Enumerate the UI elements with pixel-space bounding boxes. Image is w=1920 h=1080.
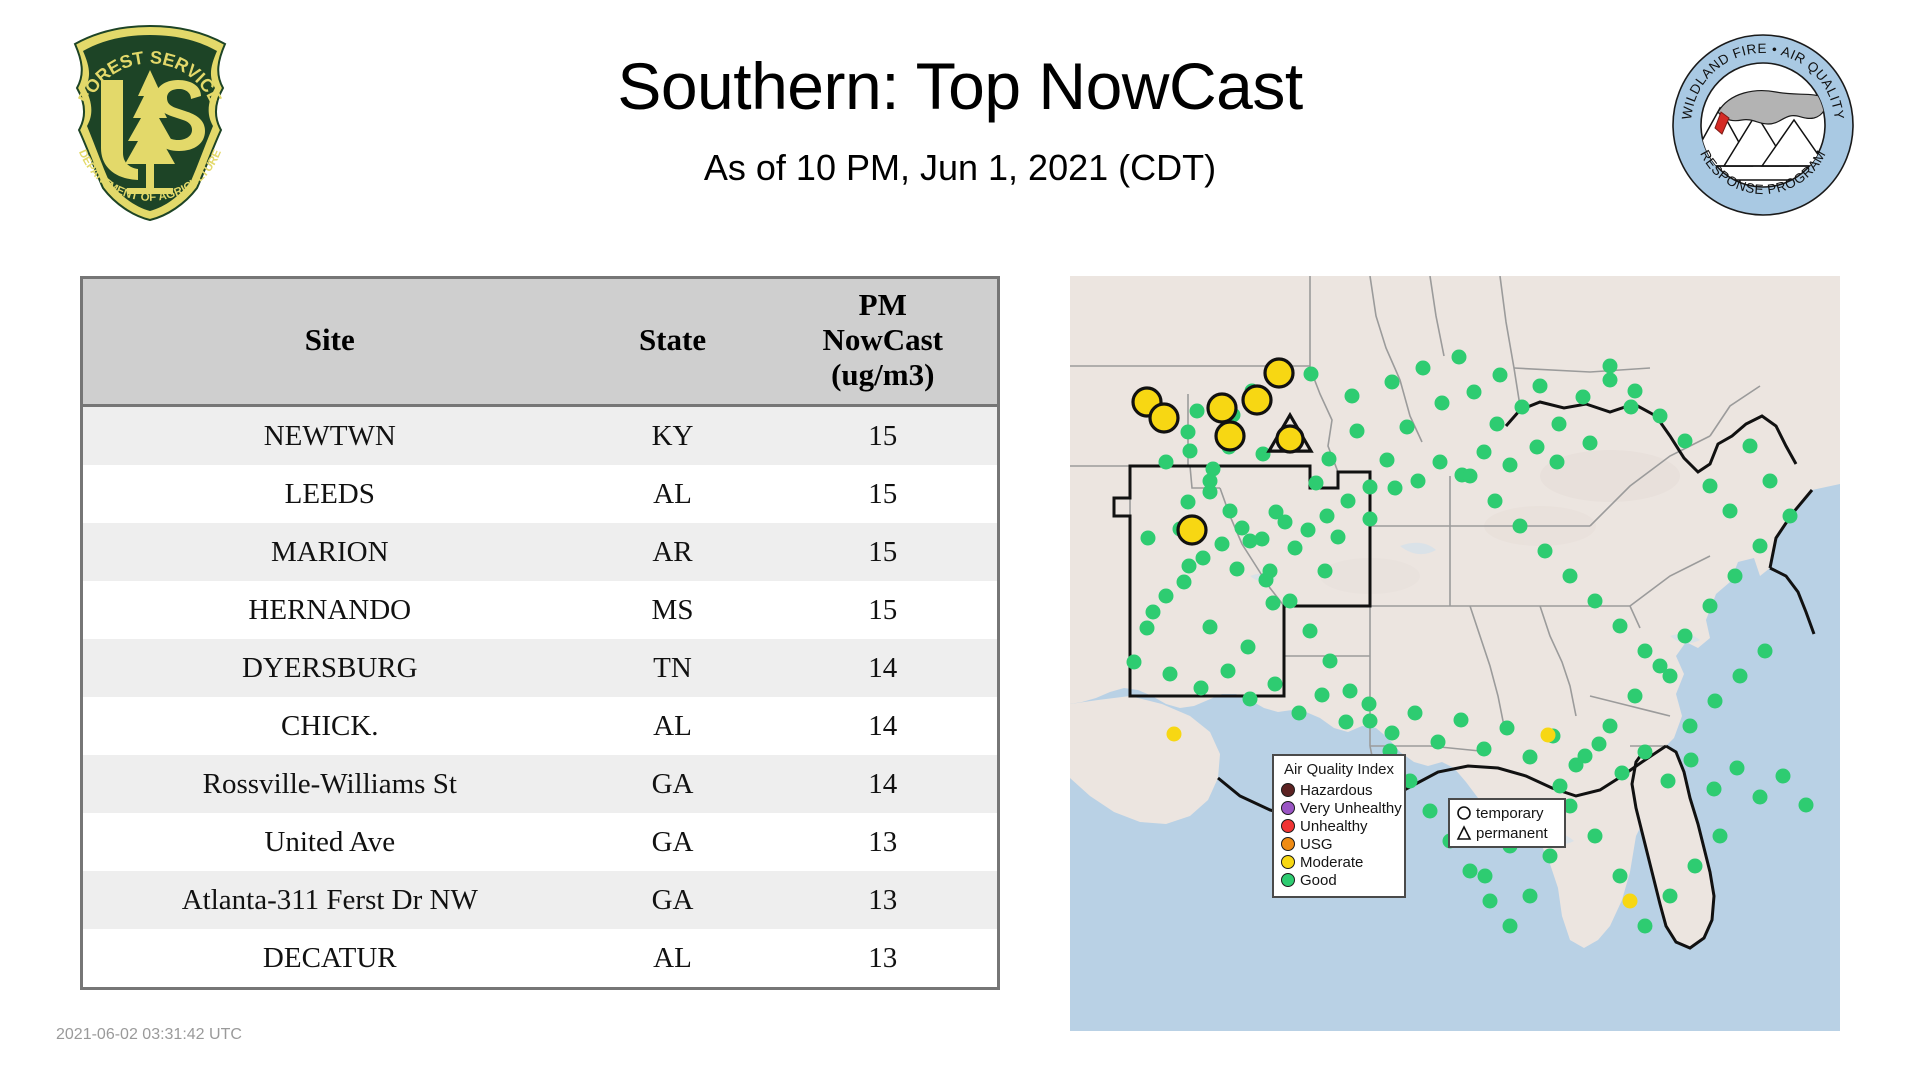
monitor-marker-good[interactable] <box>1553 779 1568 794</box>
monitor-marker-good[interactable] <box>1588 594 1603 609</box>
monitor-marker-good[interactable] <box>1552 417 1567 432</box>
monitor-marker-good[interactable] <box>1215 537 1230 552</box>
aqi-legend-label: Good <box>1300 873 1337 888</box>
cell-value: 15 <box>768 465 997 523</box>
cell-value: 14 <box>768 755 997 813</box>
cell-value: 15 <box>768 581 997 639</box>
monitor-marker-good[interactable] <box>1223 504 1238 519</box>
monitor-marker-good[interactable] <box>1743 439 1758 454</box>
table-row: NEWTWNKY15 <box>83 406 997 466</box>
wfaqrp-logo: WILDLAND FIRE • AIR QUALITY RESPONSE PRO… <box>1672 34 1854 216</box>
monitor-marker-good[interactable] <box>1663 889 1678 904</box>
monitor-marker-good[interactable] <box>1315 688 1330 703</box>
table-row: Atlanta-311 Ferst Dr NWGA13 <box>83 871 997 929</box>
cell-site: NEWTWN <box>83 406 577 466</box>
monitor-marker-good[interactable] <box>1385 726 1400 741</box>
monitor-marker-good[interactable] <box>1230 562 1245 577</box>
monitor-marker-good[interactable] <box>1707 782 1722 797</box>
monitor-marker-good[interactable] <box>1483 894 1498 909</box>
legend-label-temporary: temporary <box>1476 806 1544 821</box>
monitor-marker-good[interactable] <box>1661 774 1676 789</box>
cell-site: CHICK. <box>83 697 577 755</box>
cell-value: 14 <box>768 697 997 755</box>
monitor-marker-good[interactable] <box>1488 494 1503 509</box>
page-title: Southern: Top NowCast <box>260 52 1660 121</box>
monitor-marker-good[interactable] <box>1203 474 1218 489</box>
cell-state: AL <box>577 697 769 755</box>
cell-value: 15 <box>768 406 997 466</box>
column-header-state: State <box>577 279 769 406</box>
monitor-marker-good[interactable] <box>1628 689 1643 704</box>
cell-site: DYERSBURG <box>83 639 577 697</box>
aqi-legend: Air Quality Index HazardousVery Unhealth… <box>1272 754 1406 898</box>
aqi-swatch-icon <box>1281 873 1295 887</box>
cell-state: GA <box>577 755 769 813</box>
monitor-marker-good[interactable] <box>1341 494 1356 509</box>
cell-site: United Ave <box>83 813 577 871</box>
monitor-marker-good[interactable] <box>1653 409 1668 424</box>
cell-value: 13 <box>768 813 997 871</box>
monitor-marker-good[interactable] <box>1708 694 1723 709</box>
monitor-marker-good[interactable] <box>1513 519 1528 534</box>
monitor-marker-good[interactable] <box>1533 379 1548 394</box>
monitor-marker-good[interactable] <box>1411 474 1426 489</box>
monitor-marker-good[interactable] <box>1763 474 1778 489</box>
monitor-marker-good[interactable] <box>1304 367 1319 382</box>
monitor-marker-good[interactable] <box>1345 389 1360 404</box>
monitor-marker-good[interactable] <box>1678 629 1693 644</box>
monitor-marker-good[interactable] <box>1388 481 1403 496</box>
cell-site: Atlanta-311 Ferst Dr NW <box>83 871 577 929</box>
cell-state: KY <box>577 406 769 466</box>
aqi-legend-row: Good <box>1281 871 1397 889</box>
monitor-marker-good[interactable] <box>1624 400 1639 415</box>
aqi-legend-label: Very Unhealthy <box>1300 801 1402 816</box>
monitor-marker-good[interactable] <box>1452 350 1467 365</box>
aqi-legend-label: Moderate <box>1300 855 1363 870</box>
column-header-state-label: State <box>639 322 706 357</box>
monitor-marker-good[interactable] <box>1339 715 1354 730</box>
monitor-marker-highlight-permanent-dot[interactable] <box>1277 426 1303 452</box>
monitor-marker-good[interactable] <box>1477 445 1492 460</box>
column-header-site: Site <box>83 279 577 406</box>
monitor-marker-good[interactable] <box>1380 453 1395 468</box>
column-header-pm-line2: NowCast <box>822 322 943 357</box>
monitor-marker-good[interactable] <box>1463 469 1478 484</box>
cell-state: GA <box>577 813 769 871</box>
monitor-marker-good[interactable] <box>1713 829 1728 844</box>
monitor-marker-good[interactable] <box>1477 742 1492 757</box>
aqi-legend-label: Hazardous <box>1300 783 1373 798</box>
monitor-marker-highlight-temporary[interactable] <box>1178 516 1206 544</box>
monitor-marker-good[interactable] <box>1576 390 1591 405</box>
monitor-marker-good[interactable] <box>1181 495 1196 510</box>
monitor-marker-good[interactable] <box>1196 551 1211 566</box>
monitor-marker-good[interactable] <box>1653 659 1668 674</box>
monitor-marker-highlight-temporary[interactable] <box>1208 394 1236 422</box>
table-row: United AveGA13 <box>83 813 997 871</box>
table-row: DYERSBURGTN14 <box>83 639 997 697</box>
aqi-legend-row: Hazardous <box>1281 781 1397 799</box>
monitor-marker-good[interactable] <box>1538 544 1553 559</box>
monitor-marker-good[interactable] <box>1433 455 1448 470</box>
monitor-marker-good[interactable] <box>1515 400 1530 415</box>
monitor-marker-good[interactable] <box>1753 790 1768 805</box>
monitor-marker-good[interactable] <box>1182 559 1197 574</box>
cell-state: AL <box>577 929 769 987</box>
aqi-legend-title: Air Quality Index <box>1281 761 1397 778</box>
aqi-swatch-icon <box>1281 819 1295 833</box>
cell-state: AR <box>577 523 769 581</box>
legend-row-permanent: permanent <box>1456 823 1548 843</box>
monitor-marker-good[interactable] <box>1203 620 1218 635</box>
cell-value: 13 <box>768 871 997 929</box>
aqi-swatch-icon <box>1281 855 1295 869</box>
monitor-marker-highlight-temporary[interactable] <box>1216 422 1244 450</box>
monitor-marker-good[interactable] <box>1467 385 1482 400</box>
monitor-marker-good[interactable] <box>1181 425 1196 440</box>
aqi-legend-row: Unhealthy <box>1281 817 1397 835</box>
legend-label-permanent: permanent <box>1476 826 1548 841</box>
monitor-marker-good[interactable] <box>1500 721 1515 736</box>
title-block: Southern: Top NowCast As of 10 PM, Jun 1… <box>260 52 1660 189</box>
monitor-marker-good[interactable] <box>1638 745 1653 760</box>
monitor-marker-good[interactable] <box>1490 417 1505 432</box>
monitor-marker-good[interactable] <box>1416 361 1431 376</box>
monitor-marker-good[interactable] <box>1400 420 1415 435</box>
monitor-marker-good[interactable] <box>1350 424 1365 439</box>
monitor-marker-good[interactable] <box>1603 719 1618 734</box>
column-header-pm-line1: PM <box>859 287 907 322</box>
monitor-marker-good[interactable] <box>1454 713 1469 728</box>
monitor-marker-good[interactable] <box>1320 509 1335 524</box>
column-header-pm-line3: (ug/m3) <box>831 357 934 392</box>
monitor-marker-good[interactable] <box>1503 458 1518 473</box>
site-type-legend: temporary permanent <box>1448 798 1566 848</box>
aqi-legend-row: Very Unhealthy <box>1281 799 1397 817</box>
monitor-marker-good[interactable] <box>1363 714 1378 729</box>
table-header-row: Site State PM NowCast (ug/m3) <box>83 279 997 406</box>
monitor-marker-moderate[interactable] <box>1167 727 1182 742</box>
monitor-marker-good[interactable] <box>1628 384 1643 399</box>
monitor-marker-good[interactable] <box>1613 619 1628 634</box>
monitor-marker-good[interactable] <box>1638 644 1653 659</box>
monitor-marker-good[interactable] <box>1688 859 1703 874</box>
monitor-marker-good[interactable] <box>1563 569 1578 584</box>
monitor-marker-good[interactable] <box>1288 541 1303 556</box>
monitor-marker-good[interactable] <box>1140 621 1155 636</box>
monitor-marker-good[interactable] <box>1638 919 1653 934</box>
aqi-legend-label: USG <box>1300 837 1333 852</box>
aqi-legend-label: Unhealthy <box>1300 819 1368 834</box>
table-row: LEEDSAL15 <box>83 465 997 523</box>
monitor-marker-good[interactable] <box>1523 889 1538 904</box>
monitor-marker-good[interactable] <box>1322 452 1337 467</box>
cell-value: 13 <box>768 929 997 987</box>
page-subtitle: As of 10 PM, Jun 1, 2021 (CDT) <box>260 147 1660 189</box>
monitor-marker-good[interactable] <box>1723 504 1738 519</box>
aqi-legend-row: Moderate <box>1281 853 1397 871</box>
monitor-marker-good[interactable] <box>1385 375 1400 390</box>
monitor-marker-good[interactable] <box>1578 749 1593 764</box>
monitor-marker-good[interactable] <box>1783 509 1798 524</box>
monitor-marker-good[interactable] <box>1530 440 1545 455</box>
aqi-map[interactable] <box>1070 276 1840 1031</box>
monitor-marker-good[interactable] <box>1799 798 1814 813</box>
monitor-marker-highlight-temporary[interactable] <box>1150 404 1178 432</box>
monitor-marker-good[interactable] <box>1753 539 1768 554</box>
monitor-marker-good[interactable] <box>1221 664 1236 679</box>
aqi-swatch-icon <box>1281 837 1295 851</box>
monitor-marker-good[interactable] <box>1278 515 1293 530</box>
monitor-marker-good[interactable] <box>1363 512 1378 527</box>
monitor-marker-good[interactable] <box>1268 677 1283 692</box>
cell-site: HERNANDO <box>83 581 577 639</box>
monitor-marker-good[interactable] <box>1146 605 1161 620</box>
monitor-marker-good[interactable] <box>1728 569 1743 584</box>
monitor-marker-good[interactable] <box>1592 737 1607 752</box>
monitor-marker-good[interactable] <box>1703 479 1718 494</box>
monitor-marker-good[interactable] <box>1550 455 1565 470</box>
monitor-marker-good[interactable] <box>1190 404 1205 419</box>
monitor-marker-good[interactable] <box>1613 869 1628 884</box>
table-row: HERNANDOMS15 <box>83 581 997 639</box>
monitor-marker-good[interactable] <box>1603 373 1618 388</box>
table-row: CHICK.AL14 <box>83 697 997 755</box>
monitor-marker-good[interactable] <box>1733 669 1748 684</box>
monitor-marker-good[interactable] <box>1256 447 1271 462</box>
cell-state: TN <box>577 639 769 697</box>
monitor-marker-good[interactable] <box>1183 444 1198 459</box>
monitor-marker-good[interactable] <box>1266 596 1281 611</box>
legend-row-temporary: temporary <box>1456 803 1548 823</box>
monitor-marker-good[interactable] <box>1243 534 1258 549</box>
monitor-marker-good[interactable] <box>1503 919 1518 934</box>
cell-value: 15 <box>768 523 997 581</box>
monitor-marker-good[interactable] <box>1301 523 1316 538</box>
monitor-marker-good[interactable] <box>1292 706 1307 721</box>
monitor-marker-good[interactable] <box>1318 564 1333 579</box>
monitor-marker-good[interactable] <box>1603 359 1618 374</box>
monitor-marker-good[interactable] <box>1343 684 1358 699</box>
monitor-marker-good[interactable] <box>1435 396 1450 411</box>
monitor-marker-good[interactable] <box>1615 766 1630 781</box>
monitor-marker-moderate[interactable] <box>1623 894 1638 909</box>
monitor-marker-good[interactable] <box>1263 564 1278 579</box>
monitor-marker-good[interactable] <box>1363 480 1378 495</box>
monitor-marker-good[interactable] <box>1431 735 1446 750</box>
cell-state: GA <box>577 871 769 929</box>
monitor-marker-good[interactable] <box>1463 864 1478 879</box>
cell-site: Rossville-Williams St <box>83 755 577 813</box>
monitor-marker-good[interactable] <box>1408 706 1423 721</box>
monitor-marker-good[interactable] <box>1127 655 1142 670</box>
monitor-marker-good[interactable] <box>1523 750 1538 765</box>
aqi-swatch-icon <box>1281 801 1295 815</box>
aqi-legend-row: USG <box>1281 835 1397 853</box>
cell-state: MS <box>577 581 769 639</box>
table-row: DECATURAL13 <box>83 929 997 987</box>
monitor-marker-good[interactable] <box>1684 753 1699 768</box>
circle-icon <box>1456 805 1472 821</box>
aqi-swatch-icon <box>1281 783 1295 797</box>
monitor-marker-good[interactable] <box>1241 640 1256 655</box>
monitor-marker-highlight-temporary[interactable] <box>1243 386 1271 414</box>
monitor-marker-good[interactable] <box>1423 804 1438 819</box>
table-row: Rossville-Williams StGA14 <box>83 755 997 813</box>
monitor-marker-good[interactable] <box>1583 436 1598 451</box>
footer-timestamp: 2021-06-02 03:31:42 UTC <box>56 1026 242 1044</box>
monitor-marker-good[interactable] <box>1235 521 1250 536</box>
monitor-marker-good[interactable] <box>1362 697 1377 712</box>
monitor-marker-highlight-temporary[interactable] <box>1265 359 1293 387</box>
monitor-marker-good[interactable] <box>1159 589 1174 604</box>
monitor-marker-good[interactable] <box>1678 434 1693 449</box>
monitor-marker-good[interactable] <box>1683 719 1698 734</box>
cell-site: MARION <box>83 523 577 581</box>
cell-value: 14 <box>768 639 997 697</box>
monitor-marker-good[interactable] <box>1478 869 1493 884</box>
monitor-marker-good[interactable] <box>1163 667 1178 682</box>
triangle-icon <box>1456 825 1472 841</box>
monitor-marker-good[interactable] <box>1283 594 1298 609</box>
monitor-marker-good[interactable] <box>1309 476 1324 491</box>
cell-state: AL <box>577 465 769 523</box>
monitor-marker-good[interactable] <box>1703 599 1718 614</box>
monitor-marker-good[interactable] <box>1303 624 1318 639</box>
table-row: MARIONAR15 <box>83 523 997 581</box>
monitor-marker-good[interactable] <box>1323 654 1338 669</box>
cell-site: DECATUR <box>83 929 577 987</box>
monitor-marker-good[interactable] <box>1141 531 1156 546</box>
nowcast-table: Site State PM NowCast (ug/m3) NEWTWNKY15… <box>80 276 1000 990</box>
monitor-marker-good[interactable] <box>1758 644 1773 659</box>
monitor-marker-good[interactable] <box>1543 849 1558 864</box>
cell-site: LEEDS <box>83 465 577 523</box>
monitor-marker-good[interactable] <box>1243 692 1258 707</box>
monitor-marker-moderate[interactable] <box>1541 728 1556 743</box>
monitor-marker-good[interactable] <box>1493 368 1508 383</box>
monitor-marker-good[interactable] <box>1776 769 1791 784</box>
column-header-site-label: Site <box>305 322 355 357</box>
forest-service-logo: FOREST SERVICE DEPARTMENT OF AGRICULTURE <box>55 22 245 222</box>
column-header-pm-nowcast: PM NowCast (ug/m3) <box>768 279 997 406</box>
monitor-marker-good[interactable] <box>1177 575 1192 590</box>
monitor-marker-good[interactable] <box>1730 761 1745 776</box>
monitor-marker-good[interactable] <box>1159 455 1174 470</box>
monitor-marker-good[interactable] <box>1331 530 1346 545</box>
monitor-marker-good[interactable] <box>1194 681 1209 696</box>
monitor-marker-good[interactable] <box>1588 829 1603 844</box>
